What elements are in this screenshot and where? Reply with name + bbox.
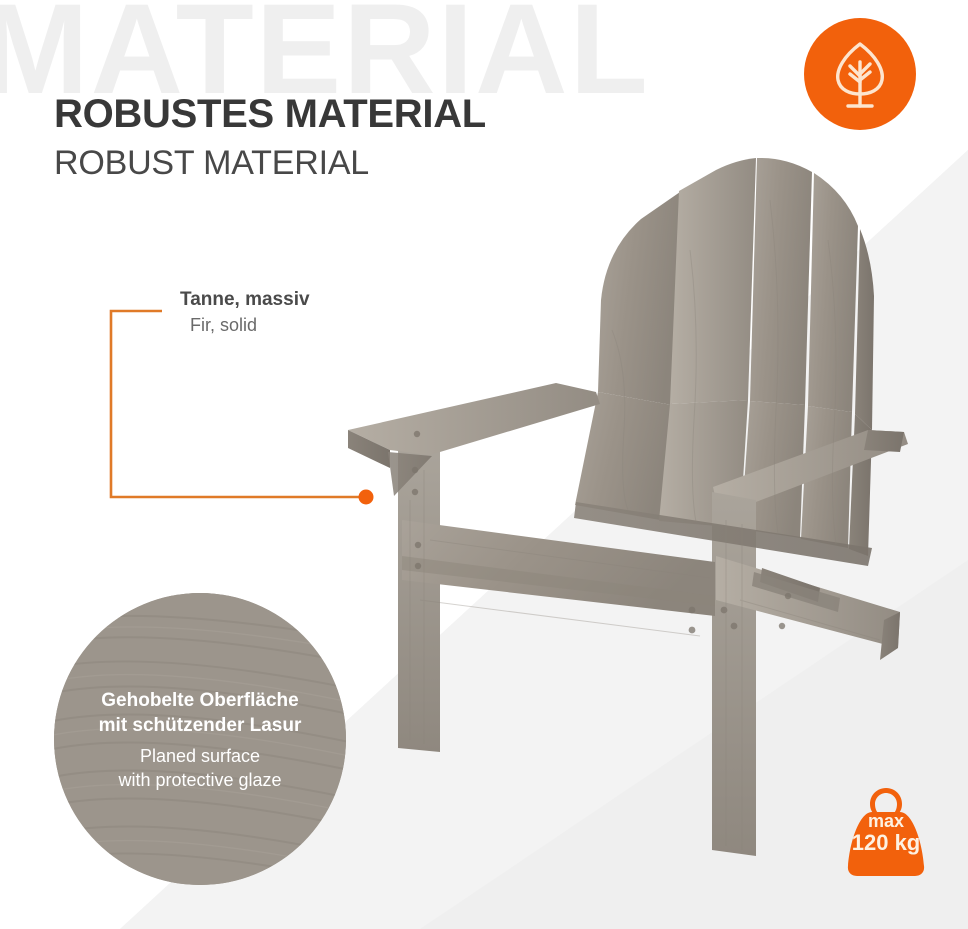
page-subtitle: ROBUST MATERIAL [54,146,369,180]
surface-caption-en: Planed surface with protective glaze [54,745,346,792]
surface-detail-circle: Gehobelte Oberfläche mit schützender Las… [54,593,346,885]
weight-icon [836,782,936,882]
tree-icon [804,18,916,130]
callout-label-de: Tanne, massiv [180,288,310,312]
tree-badge [804,18,916,130]
weight-badge: max 120 kg [836,782,936,882]
surface-caption-en-line1: Planed surface [54,745,346,768]
callout-label-en: Fir, solid [190,314,257,337]
surface-caption-de-line2: mit schützender Lasur [54,714,346,739]
surface-caption: Gehobelte Oberfläche mit schützender Las… [54,689,346,792]
infographic-canvas: MATERIAL [0,0,968,929]
surface-caption-de-line1: Gehobelte Oberfläche [54,689,346,714]
page-title: ROBUSTES MATERIAL [54,94,486,134]
surface-caption-de: Gehobelte Oberfläche mit schützender Las… [54,689,346,738]
surface-caption-en-line2: with protective glaze [54,769,346,792]
